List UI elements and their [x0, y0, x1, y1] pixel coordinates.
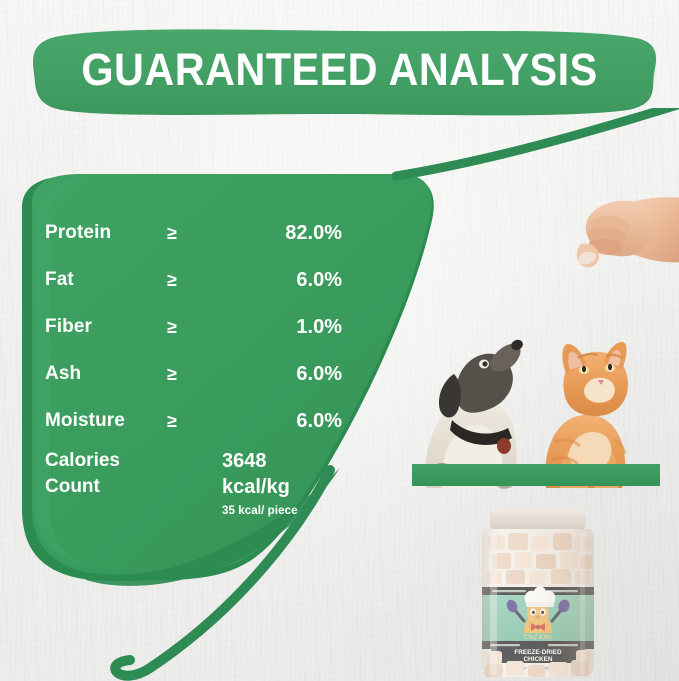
green-shelf-bar — [412, 464, 660, 486]
table-row: Fiber ≥ 1.0% — [45, 312, 345, 342]
table-row: Ash ≥ 6.0% — [45, 359, 345, 389]
pets-photo — [408, 300, 670, 490]
table-row: Fat ≥ 6.0% — [45, 265, 345, 295]
calories-label: Calories Count — [45, 448, 222, 500]
calories-row: Calories Count 3648 kcal/kg 35 kcal/ pie… — [45, 448, 345, 517]
calories-value: 3648 kcal/kg — [222, 448, 345, 500]
nutrient-label: Protein — [45, 222, 167, 244]
nutrient-operator: ≥ — [167, 270, 222, 291]
nutrient-label: Fiber — [45, 316, 167, 338]
product-jar: Chef Kitty FREEZE-DRIED CHICKEN YUMMY TR… — [468, 503, 608, 681]
nutrient-label: Ash — [45, 363, 167, 385]
jar-glass-gloss — [482, 529, 594, 677]
analysis-table: Protein ≥ 82.0% Fat ≥ 6.0% Fiber ≥ 1.0% … — [0, 108, 420, 681]
hand-holding-treat-icon — [565, 188, 679, 278]
nutrient-label: Moisture — [45, 410, 167, 432]
nutrient-value: 1.0% — [222, 316, 342, 339]
nutrient-operator: ≥ — [167, 317, 222, 338]
table-row: Moisture ≥ 6.0% — [45, 406, 345, 436]
nutrient-value: 6.0% — [222, 363, 342, 386]
nutrient-label: Fat — [45, 269, 167, 291]
nutrient-value: 6.0% — [222, 269, 342, 292]
page-title: GUARANTEED ANALYSIS — [27, 47, 652, 92]
jar-lid — [490, 509, 586, 531]
calories-values: 3648 kcal/kg 35 kcal/ piece — [222, 448, 345, 517]
nutrient-operator: ≥ — [167, 364, 222, 385]
nutrient-operator: ≥ — [167, 223, 222, 244]
calories-note: 35 kcal/ piece — [222, 505, 345, 517]
nutrient-value: 6.0% — [222, 410, 342, 433]
nutrient-operator: ≥ — [167, 411, 222, 432]
nutrient-value: 82.0% — [222, 222, 342, 245]
table-row: Protein ≥ 82.0% — [45, 218, 345, 248]
infographic-canvas: GUARANTEED ANALYSIS — [0, 0, 679, 681]
